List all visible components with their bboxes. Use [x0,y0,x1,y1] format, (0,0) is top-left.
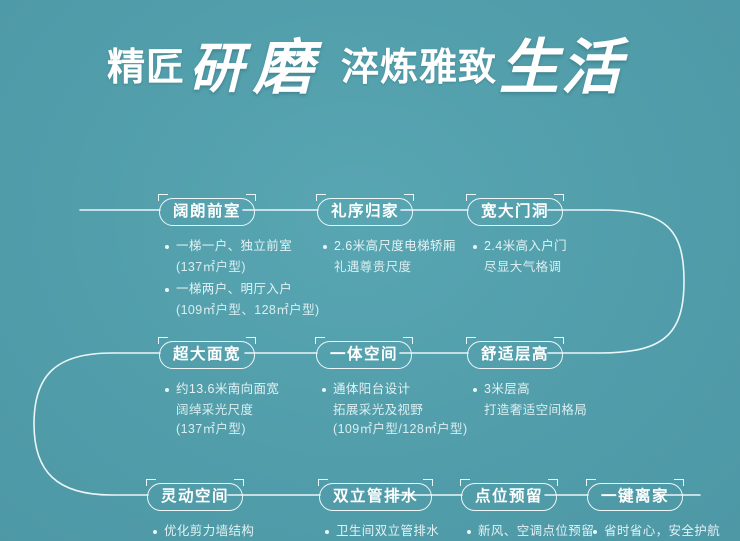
bullet-item: 2.4米高入户门 [469,237,567,256]
feature-group: 卫生间双立管排水 有效防止异味 [321,522,439,541]
bullet-item: 一梯一户、独立前室 [161,237,320,256]
bullet-dot-icon [325,530,329,534]
bullet-item: 一梯两户、明厅入户 [161,280,320,299]
bullet-text: 3米层高 [484,380,530,399]
feature-label[interactable]: 宽大门洞 [467,198,563,226]
bullet-subtext: (137㎡户型) [161,258,320,277]
bullet-dot-icon [165,245,169,249]
bullet-subtext: 打造奢适空间格局 [469,401,587,420]
feature-group: 一梯两户、明厅入户 (109㎡户型、128㎡户型) [161,280,320,320]
feature-body: 新风、空调点位预留 便于后期装修 [461,522,594,541]
bullet-subtext: 尽显大气格调 [469,258,567,277]
bullet-text: 新风、空调点位预留 [478,522,594,541]
bullet-subtext: 礼遇尊贵尺度 [319,258,456,277]
feature-group: 新风、空调点位预留 便于后期装修 [463,522,594,541]
feature-group: 2.4米高入户门 尽显大气格调 [469,237,567,277]
feature-card-kuandamendong[interactable]: 宽大门洞 2.4米高入户门 尽显大气格调 [467,198,567,280]
feature-label[interactable]: 点位预留 [461,483,557,511]
feature-body: 优化剪力墙结构 实现空间多变 [147,522,254,541]
bullet-dot-icon [165,288,169,292]
feature-group: 通体阳台设计 拓展采光及视野 (109㎡户型/128㎡户型) [318,380,468,439]
feature-card-shushicenggao[interactable]: 舒适层高 3米层高 打造奢适空间格局 [467,341,587,423]
title-segment-4: 淬炼雅致 [341,49,497,87]
bullet-subtext: (109㎡户型/128㎡户型) [318,420,468,439]
bullet-subtext: (109㎡户型、128㎡户型) [161,301,320,320]
bullet-dot-icon [473,388,477,392]
feature-label[interactable]: 双立管排水 [319,483,432,511]
feature-body: 通体阳台设计 拓展采光及视野 (109㎡户型/128㎡户型) [316,380,468,439]
feature-card-shuanglieguanpaishui[interactable]: 双立管排水 卫生间双立管排水 有效防止异味 [319,483,439,541]
bullet-dot-icon [153,530,157,534]
feature-body: 省时省心，安全护航 [587,522,720,541]
bullet-text: 通体阳台设计 [333,380,410,399]
bullet-item: 3米层高 [469,380,587,399]
feature-card-yitikongjian[interactable]: 一体空间 通体阳台设计 拓展采光及视野 (109㎡户型/128㎡户型) [316,341,468,442]
feature-group: 约13.6米南向面宽 阔绰采光尺度 (137㎡户型) [161,380,279,439]
bullet-item: 2.6米高尺度电梯轿厢 [319,237,456,256]
poster-root: 精匠研磨淬炼雅致生活 阔朗前室 一梯一户、独立前室 [0,0,740,541]
bullet-dot-icon [323,245,327,249]
feature-label[interactable]: 一体空间 [316,341,412,369]
feature-card-kuolangqianshi[interactable]: 阔朗前室 一梯一户、独立前室 (137㎡户型) 一梯两户、明厅入户 (109㎡户… [159,198,320,323]
bullet-item: 省时省心，安全护航 [589,522,720,541]
title-segment-1: 精匠 [107,49,185,87]
feature-label[interactable]: 超大面宽 [159,341,255,369]
feature-body: 约13.6米南向面宽 阔绰采光尺度 (137㎡户型) [159,380,279,439]
title-segment-2: 研 [189,41,245,95]
bullet-dot-icon [165,388,169,392]
feature-body: 2.4米高入户门 尽显大气格调 [467,237,567,277]
bullet-text: 卫生间双立管排水 [336,522,439,541]
feature-label[interactable]: 灵动空间 [147,483,243,511]
title-segment-3: 磨 [253,38,315,98]
feature-card-yijianlijia[interactable]: 一键离家 省时省心，安全护航 [587,483,720,541]
bullet-text: 一梯一户、独立前室 [176,237,292,256]
bullet-item: 约13.6米南向面宽 [161,380,279,399]
bullet-item: 通体阳台设计 [318,380,468,399]
feature-card-chaodamiankuan[interactable]: 超大面宽 约13.6米南向面宽 阔绰采光尺度 (137㎡户型) [159,341,279,442]
bullet-subtext: 拓展采光及视野 [318,401,468,420]
bullet-dot-icon [322,388,326,392]
feature-group: 3米层高 打造奢适空间格局 [469,380,587,420]
bullet-dot-icon [467,530,471,534]
feature-label[interactable]: 一键离家 [587,483,683,511]
feature-label[interactable]: 舒适层高 [467,341,563,369]
connector-left-uturn [34,353,112,495]
feature-group: 优化剪力墙结构 实现空间多变 [149,522,254,541]
feature-label[interactable]: 阔朗前室 [159,198,255,226]
bullet-text: 2.6米高尺度电梯轿厢 [334,237,456,256]
feature-group: 一梯一户、独立前室 (137㎡户型) [161,237,320,277]
bullet-item: 优化剪力墙结构 [149,522,254,541]
bullet-subtext: 阔绰采光尺度 [161,401,279,420]
feature-body: 一梯一户、独立前室 (137㎡户型) 一梯两户、明厅入户 (109㎡户型、128… [159,237,320,320]
feature-card-lixuguijia[interactable]: 礼序归家 2.6米高尺度电梯轿厢 礼遇尊贵尺度 [317,198,456,280]
bullet-dot-icon [473,245,477,249]
bullet-text: 约13.6米南向面宽 [176,380,279,399]
bullet-subtext: (137㎡户型) [161,420,279,439]
bullet-text: 2.4米高入户门 [484,237,567,256]
bullet-dot-icon [593,530,597,534]
title-segment-5: 生活 [499,38,623,98]
feature-group: 2.6米高尺度电梯轿厢 礼遇尊贵尺度 [319,237,456,277]
bullet-item: 新风、空调点位预留 [463,522,594,541]
feature-body: 2.6米高尺度电梯轿厢 礼遇尊贵尺度 [317,237,456,277]
feature-body: 卫生间双立管排水 有效防止异味 [319,522,439,541]
feature-card-lingdongkongjian[interactable]: 灵动空间 优化剪力墙结构 实现空间多变 [147,483,254,541]
bullet-text: 省时省心，安全护航 [604,522,720,541]
bullet-text: 优化剪力墙结构 [164,522,254,541]
feature-card-dianweiyuliu[interactable]: 点位预留 新风、空调点位预留 便于后期装修 [461,483,594,541]
connector-right-uturn [600,210,684,353]
feature-body: 3米层高 打造奢适空间格局 [467,380,587,420]
page-title: 精匠研磨淬炼雅致生活 [0,38,740,98]
feature-group: 省时省心，安全护航 [589,522,720,541]
feature-label[interactable]: 礼序归家 [317,198,413,226]
bullet-item: 卫生间双立管排水 [321,522,439,541]
bullet-text: 一梯两户、明厅入户 [176,280,292,299]
